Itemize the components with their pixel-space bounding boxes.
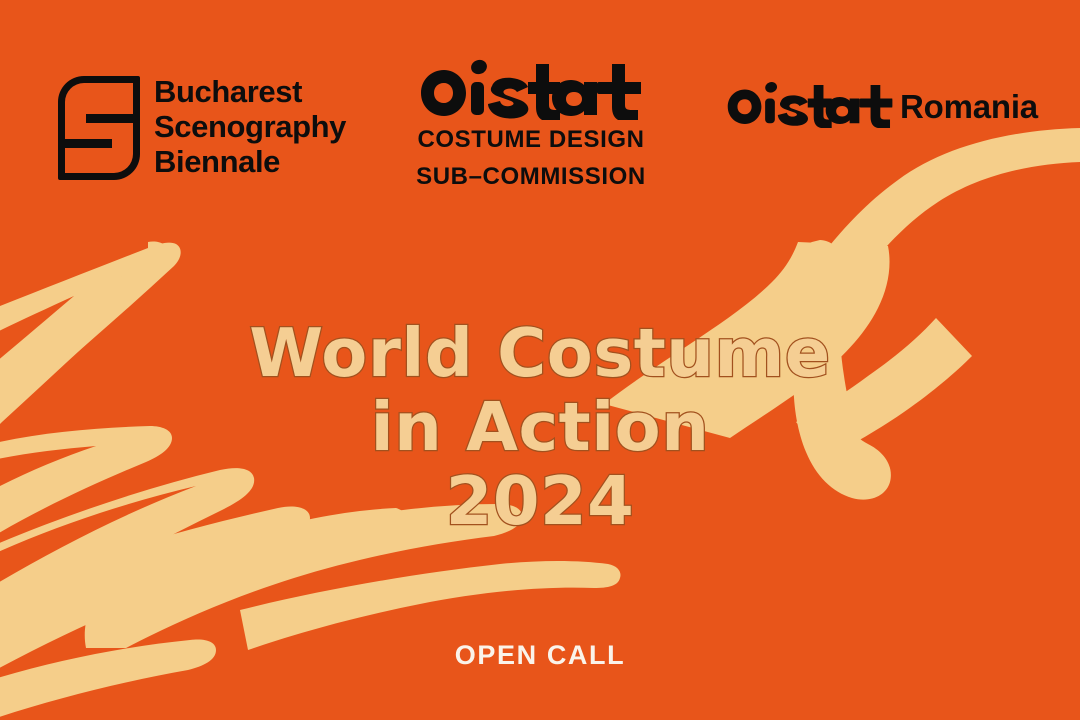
biennale-s-monogram-icon [58,76,140,180]
oistat-sub-line-2: SUB–COMMISSION [400,159,662,194]
biennale-wordmark: Bucharest Scenography Biennale [154,74,346,179]
biennale-line-2: Scenography [154,109,346,144]
biennale-line-3: Biennale [154,144,346,179]
headline-line-3: 2024 [0,464,1080,538]
oistat-wordmark-icon [416,56,646,120]
logo-row: Bucharest Scenography Biennale [0,0,1080,210]
logo-bucharest-scenography-biennale: Bucharest Scenography Biennale [58,74,346,180]
page-title: World Costume in Action 2024 [0,316,1080,538]
oistat-romania-label: Romania [900,90,1038,123]
monogram-frame [58,76,140,180]
oistat-romania-wordmark-icon [724,78,896,128]
logo-oistat-romania: Romania [724,78,1038,128]
open-call-label: OPEN CALL [0,640,1080,671]
monogram-upper-bar [86,114,140,123]
logo-oistat-costume-design: COSTUME DESIGN SUB–COMMISSION [400,56,662,194]
headline-line-2: in Action [0,390,1080,464]
biennale-line-1: Bucharest [154,74,346,109]
poster-canvas: Bucharest Scenography Biennale [0,0,1080,720]
headline-line-1: World Costume [0,316,1080,390]
oistat-sub-line-1: COSTUME DESIGN [400,122,662,157]
monogram-lower-bar [58,139,112,148]
